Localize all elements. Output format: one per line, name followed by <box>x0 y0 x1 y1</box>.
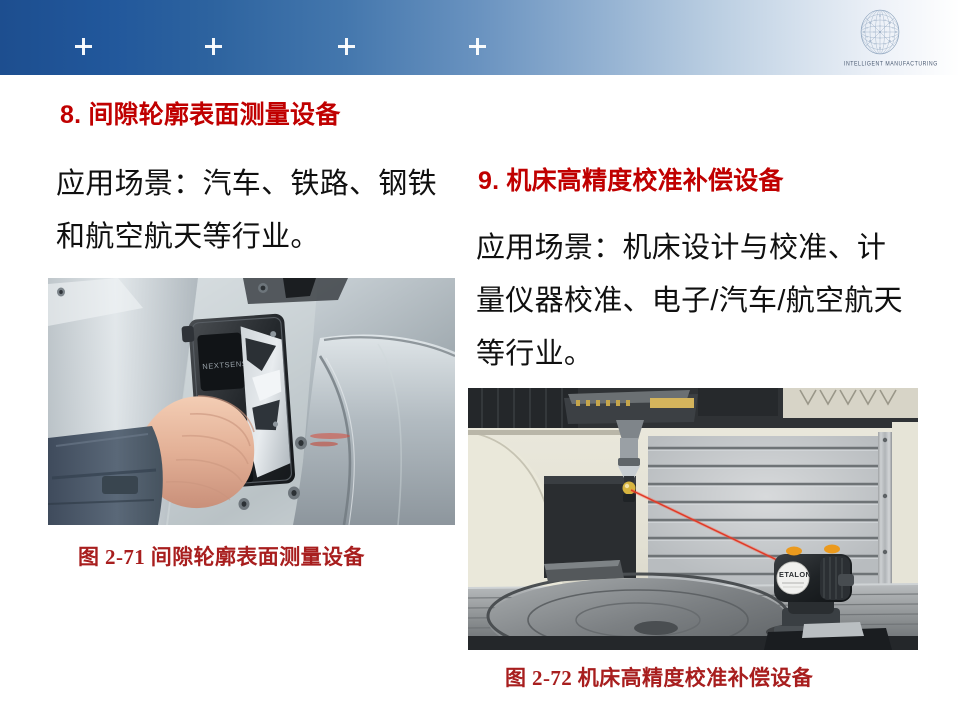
figure-2-image: ETALON <box>468 388 918 650</box>
section-8-body: 应用场景：汽车、铁路、钢铁和航空航天等行业。 <box>56 158 456 264</box>
figure-1-caption: 图 2-71 间隙轮廓表面测量设备 <box>78 541 365 571</box>
section-9-title: 9. 机床高精度校准补偿设备 <box>478 166 784 196</box>
svg-text:ETALON: ETALON <box>779 570 811 579</box>
plus-marker-icon <box>469 38 486 55</box>
wireframe-sphere-icon <box>856 8 904 60</box>
plus-marker-icon <box>205 38 222 55</box>
plus-marker-icon <box>338 38 355 55</box>
brand-logo-text: INTELLIGENT MANUFACTURING <box>844 60 916 68</box>
figure-2-caption: 图 2-72 机床高精度校准补偿设备 <box>505 662 813 692</box>
figure-1-image: NEXTSENSE <box>48 278 455 525</box>
header-band: INTELLIGENT MANUFACTURING <box>0 0 960 75</box>
section-8-title: 8. 间隙轮廓表面测量设备 <box>60 100 340 130</box>
section-9-body: 应用场景：机床设计与校准、计量仪器校准、电子/汽车/航空航天等行业。 <box>476 222 906 381</box>
brand-logo: INTELLIGENT MANUFACTURING <box>844 8 916 70</box>
plus-marker-icon <box>75 38 92 55</box>
